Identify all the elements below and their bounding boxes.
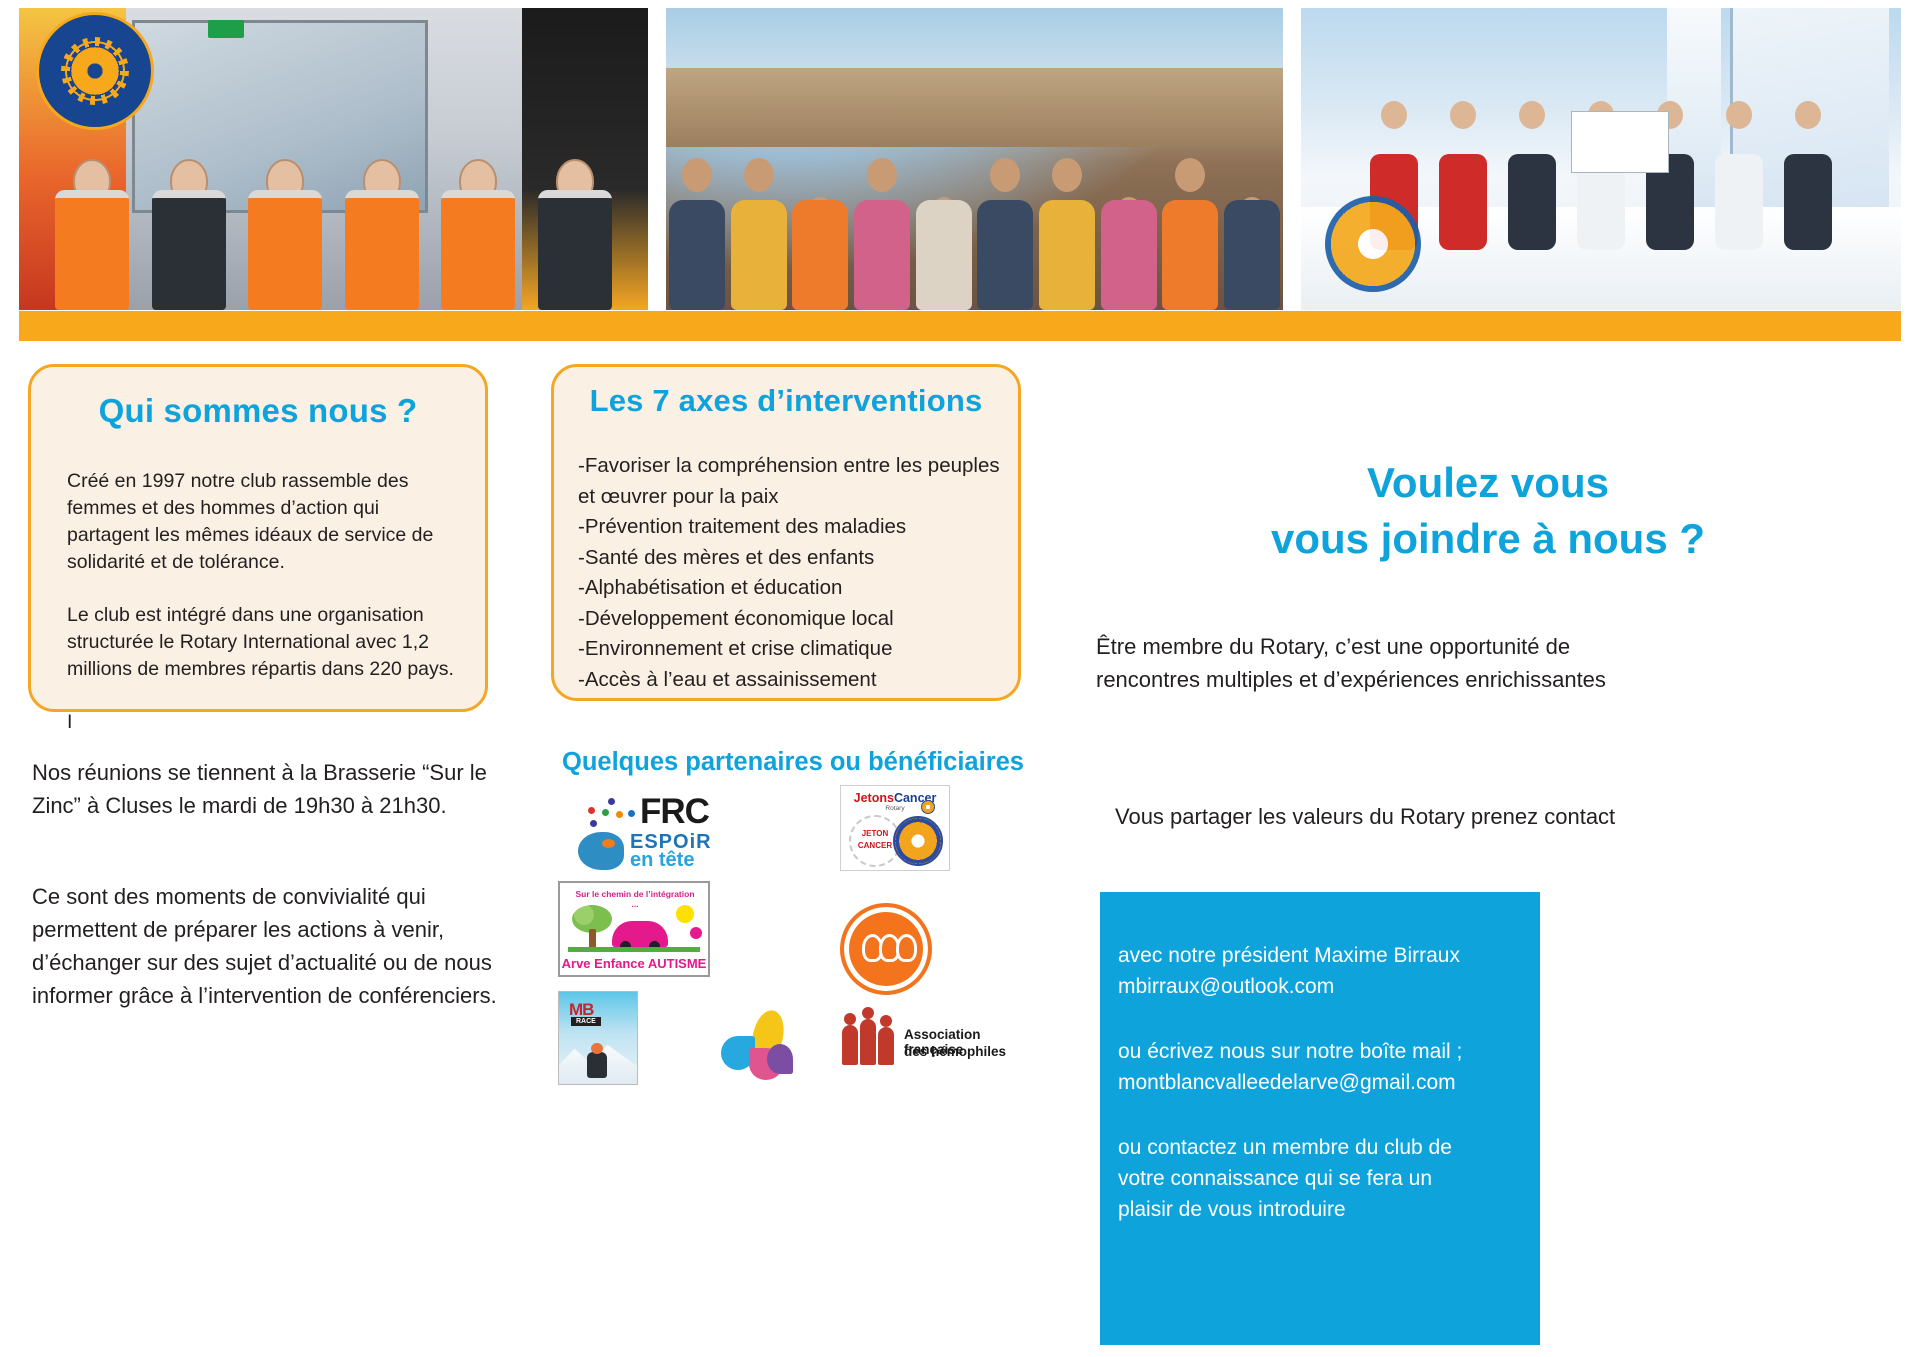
logo-frc-espoir-en-tete: FRC ESPOiR en tête bbox=[578, 790, 763, 868]
convivialite-text: Ce sont des moments de convivialité qui … bbox=[32, 880, 502, 1012]
axes-title: Les 7 axes d’interventions bbox=[554, 367, 1018, 419]
logo-petals bbox=[715, 1010, 801, 1086]
child bbox=[792, 197, 848, 310]
qui-sommes-nous-body: Créé en 1997 notre club rassemble des fe… bbox=[59, 468, 485, 736]
axis-item: -Favoriser la compréhension entre les pe… bbox=[578, 451, 1002, 512]
chip-line2: CANCER bbox=[851, 841, 899, 850]
rotary-wheel-icon bbox=[893, 816, 943, 866]
person bbox=[537, 159, 612, 310]
axes-list: -Favoriser la compréhension entre les pe… bbox=[578, 451, 1018, 695]
logo-mb-race: MB RACE bbox=[558, 991, 638, 1085]
paragraph: Le club est intégré dans une organisatio… bbox=[67, 602, 463, 683]
person bbox=[1039, 158, 1095, 310]
car-icon bbox=[612, 921, 668, 947]
contact-member-line2: votre connaissance qui se fera un bbox=[1100, 1163, 1540, 1194]
contact-block-mailbox: ou écrivez nous sur notre boîte mail ; m… bbox=[1100, 1036, 1540, 1098]
contact-mailbox-label: ou écrivez nous sur notre boîte mail ; bbox=[1100, 1036, 1540, 1067]
giant-cheque bbox=[1571, 111, 1669, 173]
logo-arve-enfance-autisme: Sur le chemin de l’intégration ... Arve … bbox=[558, 881, 710, 977]
axis-item: -Accès à l’eau et assainissement bbox=[578, 665, 1002, 696]
person bbox=[978, 158, 1034, 310]
join-values-text: Vous partager les valeurs du Rotary pren… bbox=[1115, 800, 1635, 833]
person bbox=[1163, 158, 1219, 310]
rotary-glyph-icon bbox=[862, 936, 910, 962]
jetons-word: Jetons bbox=[854, 791, 894, 805]
contact-president-label: avec notre président Maxime Birraux bbox=[1100, 940, 1540, 971]
person bbox=[151, 159, 226, 310]
person bbox=[1719, 101, 1760, 250]
paragraph: Créé en 1997 notre club rassemble des fe… bbox=[67, 468, 463, 576]
contact-member-line1: ou contactez un membre du club de bbox=[1100, 1132, 1540, 1163]
person bbox=[1442, 101, 1483, 250]
person bbox=[854, 158, 910, 310]
sun-icon bbox=[676, 905, 694, 923]
contact-block-member: ou contactez un membre du club de votre … bbox=[1100, 1132, 1540, 1225]
contact-president-email[interactable]: mbirraux@outlook.com bbox=[1100, 971, 1540, 1002]
tree-icon bbox=[572, 905, 612, 949]
partners-title: Quelques partenaires ou bénéficiaires bbox=[553, 748, 1033, 777]
logo-jetons-contre-le-cancer: JetonsCancer Rotary JETON CANCER bbox=[840, 785, 950, 871]
espoir-line2: en tête bbox=[630, 849, 694, 872]
axis-item: -Prévention traitement des maladies bbox=[578, 512, 1002, 543]
reunions-text: Nos réunions se tiennent à la Brasserie … bbox=[32, 756, 502, 822]
rotary-wheel-icon bbox=[1325, 196, 1421, 292]
join-title-line1: Voulez vous bbox=[1088, 455, 1888, 511]
frc-wordmark: FRC bbox=[640, 792, 709, 832]
contact-member-line3: plaisir de vous introduire bbox=[1100, 1194, 1540, 1225]
people-group bbox=[44, 135, 623, 310]
frc-dots-icon bbox=[582, 798, 642, 830]
person bbox=[1788, 101, 1829, 250]
contact-club-email[interactable]: montblancvalleedelarve@gmail.com bbox=[1100, 1067, 1540, 1098]
person bbox=[248, 159, 323, 310]
person bbox=[1511, 101, 1552, 250]
card-les-7-axes: Les 7 axes d’interventions -Favoriser la… bbox=[551, 364, 1021, 701]
partner-logos: FRC ESPOiR en tête JetonsCancer Rotary J… bbox=[540, 785, 1050, 1085]
grass-icon bbox=[568, 947, 700, 952]
join-title: Voulez vous vous joindre à nous ? bbox=[1088, 455, 1888, 567]
figures-icon bbox=[840, 1017, 898, 1069]
person bbox=[344, 159, 419, 310]
person bbox=[669, 158, 725, 310]
people-group bbox=[666, 93, 1283, 310]
rotary-mini-wheel-icon bbox=[921, 800, 935, 814]
head-hand-icon bbox=[578, 832, 624, 870]
rotary-wheel-icon bbox=[65, 41, 125, 101]
speech-dot-icon bbox=[602, 839, 615, 848]
rotary-club-logo bbox=[36, 12, 154, 130]
axis-item: -Développement économique local bbox=[578, 604, 1002, 635]
logo-association-francaise-des-hemophiles: Association française des hémophiles bbox=[840, 1015, 1015, 1077]
person bbox=[55, 159, 130, 310]
race-wordmark: RACE bbox=[571, 1017, 601, 1026]
child bbox=[1224, 197, 1280, 310]
exit-sign bbox=[208, 20, 244, 38]
hemophiles-line2: des hémophiles bbox=[904, 1044, 1006, 1059]
chip-line1: JETON bbox=[851, 829, 899, 838]
axis-item: -Environnement et crise climatique bbox=[578, 634, 1002, 665]
join-intro-text: Être membre du Rotary, c’est une opportu… bbox=[1096, 630, 1636, 696]
text-caret: I bbox=[67, 709, 463, 736]
person bbox=[441, 159, 516, 310]
contact-block-president: avec notre président Maxime Birraux mbir… bbox=[1100, 892, 1540, 1002]
logo-rotary-orange bbox=[840, 903, 932, 995]
petal-purple-icon bbox=[767, 1044, 793, 1074]
photo-mission-humanitaire bbox=[666, 8, 1283, 310]
photo-remise-de-cheque-ski bbox=[1301, 8, 1901, 310]
autisme-wordmark: Arve Enfance AUTISME bbox=[560, 956, 708, 971]
qui-sommes-nous-title: Qui sommes nous ? bbox=[31, 367, 485, 430]
child bbox=[1101, 197, 1157, 310]
cyclist-icon bbox=[587, 1052, 607, 1078]
espoir-en-tete-mark: ESPOiR en tête bbox=[578, 832, 763, 872]
axis-item: -Alphabétisation et éducation bbox=[578, 573, 1002, 604]
person bbox=[731, 158, 787, 310]
child bbox=[916, 197, 972, 310]
contact-box: avec notre président Maxime Birraux mbir… bbox=[1100, 892, 1540, 1345]
orange-divider-bar bbox=[19, 311, 1901, 341]
flower-icon bbox=[690, 927, 702, 939]
card-qui-sommes-nous: Qui sommes nous ? Créé en 1997 notre clu… bbox=[28, 364, 488, 712]
axis-item: -Santé des mères et des enfants bbox=[578, 543, 1002, 574]
photo-strip bbox=[19, 8, 1901, 310]
join-title-line2: vous joindre à nous ? bbox=[1088, 511, 1888, 567]
